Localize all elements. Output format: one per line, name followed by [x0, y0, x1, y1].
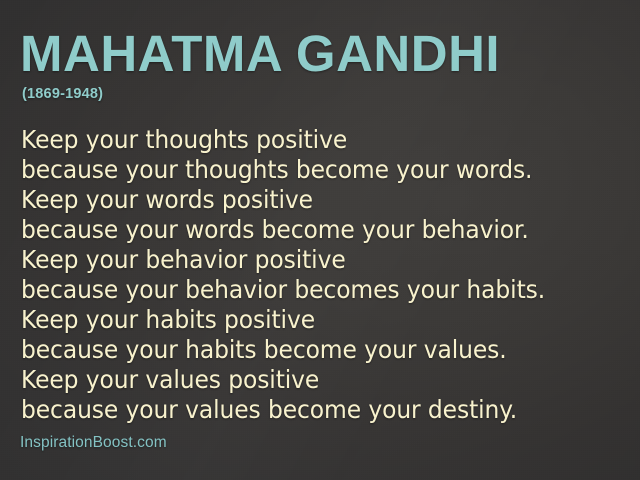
source-watermark: InspirationBoost.com — [20, 434, 167, 452]
quote-line: because your words become your behavior. — [21, 215, 604, 245]
quote-line: because your habits become your values. — [21, 335, 604, 365]
quote-line: because your thoughts become your words. — [21, 155, 604, 185]
quote-line: Keep your words positive — [21, 185, 604, 215]
quote-line: Keep your values positive — [21, 365, 604, 395]
quote-line: Keep your thoughts positive — [21, 125, 604, 155]
quote-line: because your values become your destiny. — [21, 395, 604, 425]
quote-line: Keep your habits positive — [21, 305, 604, 335]
lifespan-subtitle: (1869-1948) — [22, 86, 620, 102]
page-title: MAHATMA GANDHI — [20, 28, 620, 80]
heading-block: MAHATMA GANDHI (1869-1948) — [20, 28, 620, 102]
quote-line: Keep your behavior positive — [21, 245, 604, 275]
inspirational-quote-poster: MAHATMA GANDHI (1869-1948) Keep your tho… — [0, 0, 640, 480]
quote-line: because your behavior becomes your habit… — [21, 275, 604, 305]
quote-text-block: Keep your thoughts positive because your… — [21, 125, 631, 425]
